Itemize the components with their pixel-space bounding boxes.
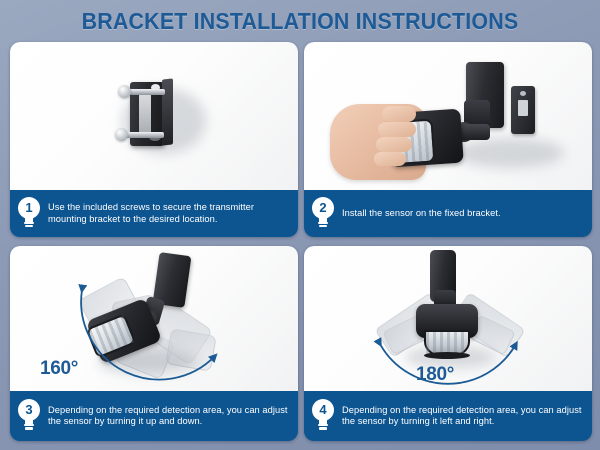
step-panel-4: 180° 4 Depending on the required detecti… [304,246,592,441]
panel-grid: 1 Use the included screws to secure the … [10,42,592,442]
screw-shaft-bottom [126,132,164,138]
step-4-photo: 180° [304,246,592,391]
wall-bracket [511,86,535,134]
tilt-range-illustration: 160° [10,246,298,391]
lightbulb-icon: 4 [310,399,336,433]
wall-shadow [454,138,564,168]
screw-head-bottom [115,128,128,141]
finger [378,122,416,137]
page-title: BRACKET INSTALLATION INSTRUCTIONS [21,4,579,38]
step-number: 4 [312,399,334,421]
step-3-caption: 3 Depending on the required detection ar… [10,391,298,441]
lightbulb-icon: 2 [310,197,336,231]
pan-range-illustration: 180° [304,246,592,391]
step-4-caption: 4 Depending on the required detection ar… [304,391,592,441]
step-panel-2: 2 Install the sensor on the fixed bracke… [304,42,592,237]
screw-shaft-top [129,89,165,95]
lightbulb-icon: 1 [16,197,42,231]
tilt-angle-label: 160° [40,358,78,380]
step-2-caption: 2 Install the sensor on the fixed bracke… [304,190,592,237]
step-1-caption: 1 Use the included screws to secure the … [10,190,298,237]
step-panel-1: 1 Use the included screws to secure the … [10,42,298,237]
step-4-text: Depending on the required detection area… [338,405,584,428]
pan-angle-label: 180° [416,364,454,386]
step-number: 3 [18,399,40,421]
hand-sensor-illustration [304,42,592,190]
step-3-text: Depending on the required detection area… [44,405,290,428]
bracket-slot [139,94,151,134]
finger [382,106,416,122]
bracket-illustration [10,42,298,190]
step-1-text: Use the included screws to secure the tr… [44,202,290,225]
step-panel-3: 160° 3 Depending on the required detecti… [10,246,298,441]
step-2-text: Install the sensor on the fixed bracket. [338,208,501,219]
finger [376,137,412,152]
step-2-photo [304,42,592,190]
finger [374,152,406,166]
step-1-photo [10,42,298,190]
step-number: 1 [18,197,40,219]
screw-head-top [118,85,131,98]
instruction-sheet: BRACKET INSTALLATION INSTRUCTIONS [0,0,600,450]
lightbulb-icon: 3 [16,399,42,433]
step-number: 2 [312,197,334,219]
step-3-photo: 160° [10,246,298,391]
